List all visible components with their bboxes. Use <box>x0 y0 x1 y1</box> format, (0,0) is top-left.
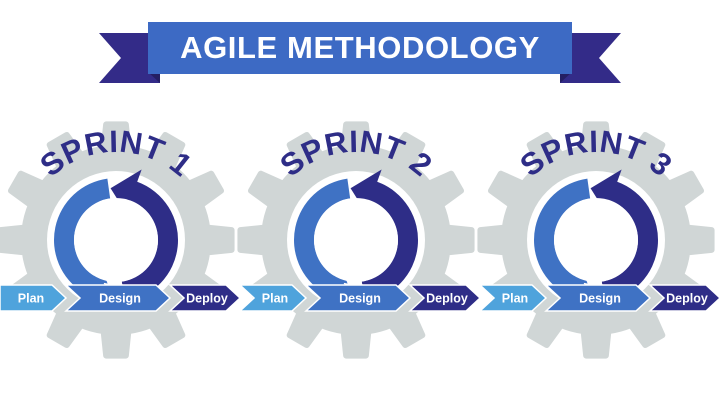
step-design-label: Design <box>339 292 381 306</box>
cycle-inner-disc <box>314 198 398 282</box>
step-design-1[interactable]: Design <box>66 285 170 311</box>
step-design-label: Design <box>579 292 621 306</box>
banner-title: AGILE METHODOLOGY <box>180 30 540 65</box>
step-plan-label: Plan <box>262 292 288 306</box>
infographic-canvas: TestDevelopTestDevelopTestDevelop SPRINT… <box>0 0 720 400</box>
step-plan-label: Plan <box>502 292 528 306</box>
step-deploy-label: Deploy <box>666 292 708 306</box>
step-plan-label: Plan <box>18 292 44 306</box>
step-deploy-label: Deploy <box>186 292 228 306</box>
step-plan-3[interactable]: Plan <box>480 285 546 311</box>
cycle-inner-disc <box>554 198 638 282</box>
step-arrow-band: PlanDesignDeployPlanDesignDeployPlanDesi… <box>0 285 720 311</box>
step-design-3[interactable]: Design <box>546 285 650 311</box>
cycle-inner-disc <box>74 198 158 282</box>
step-plan-1[interactable]: Plan <box>0 285 66 311</box>
step-design-2[interactable]: Design <box>306 285 410 311</box>
agile-methodology-infographic: TestDevelopTestDevelopTestDevelop SPRINT… <box>0 0 720 400</box>
step-design-label: Design <box>99 292 141 306</box>
ribbon-banner: AGILE METHODOLOGY <box>99 22 621 83</box>
step-plan-2[interactable]: Plan <box>240 285 306 311</box>
step-deploy-label: Deploy <box>426 292 468 306</box>
